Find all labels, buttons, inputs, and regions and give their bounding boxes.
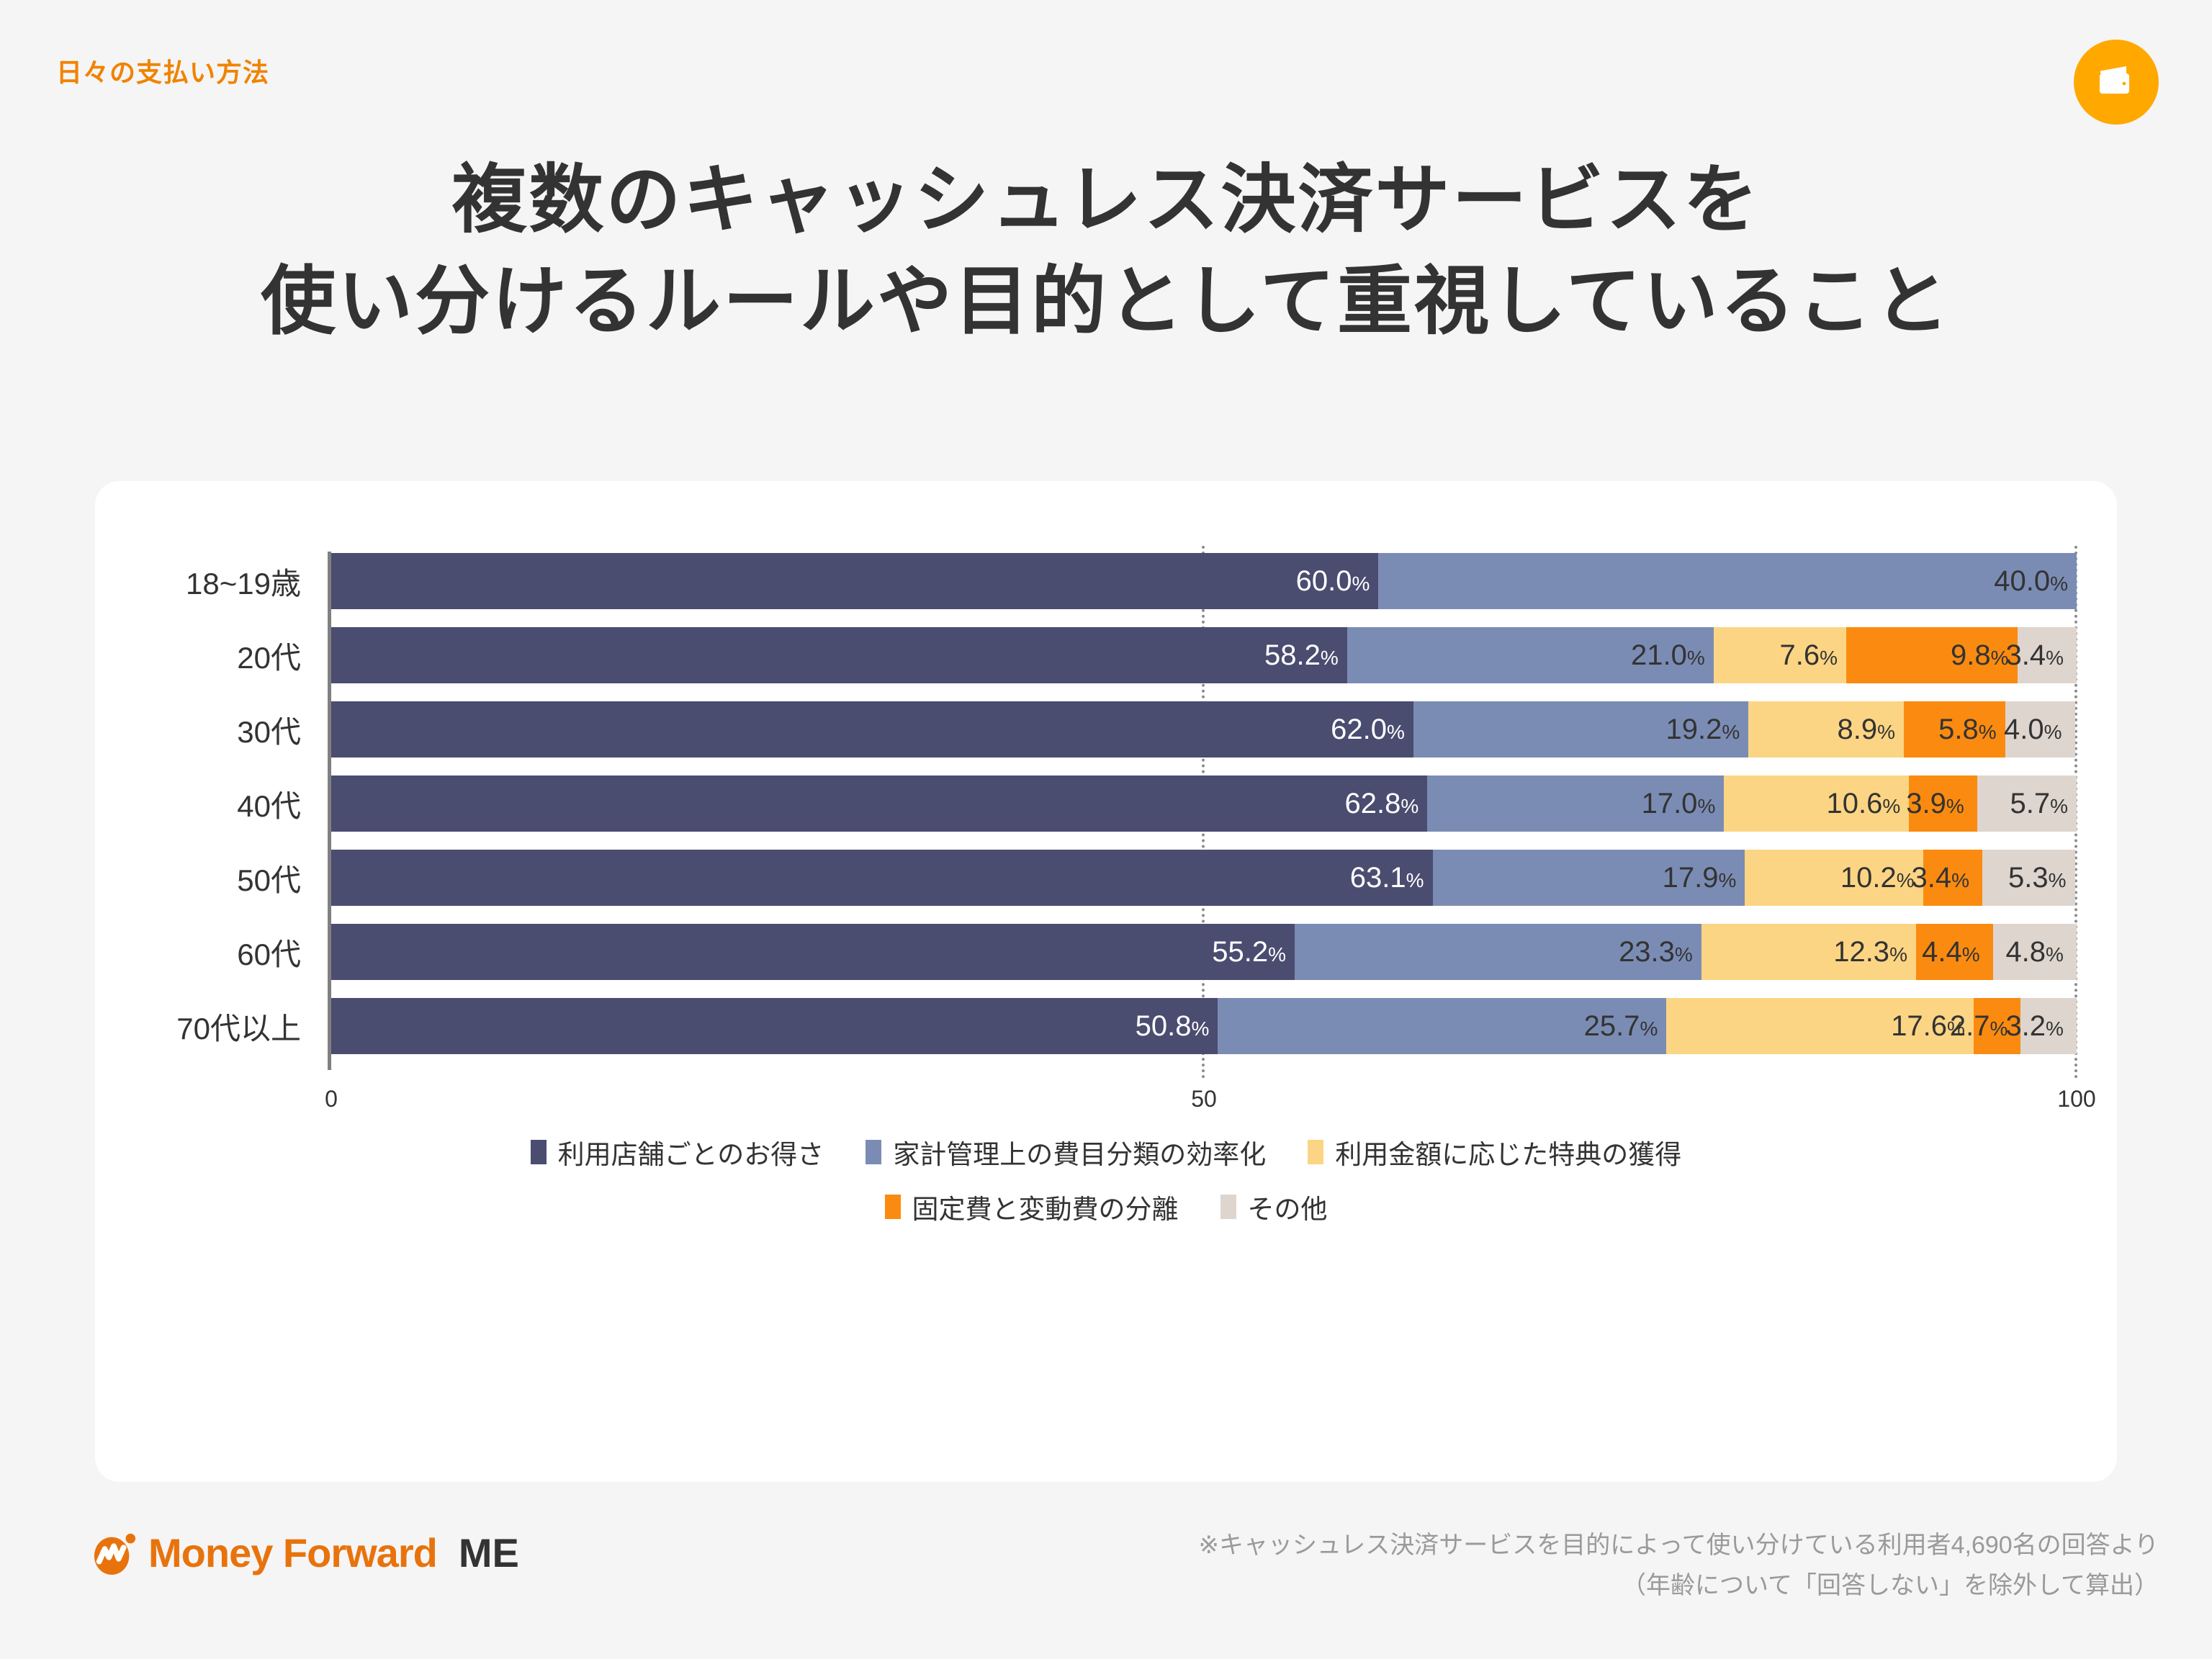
bar-value-label: 7.6%	[1780, 639, 1847, 672]
bar-segment: 9.8%	[1846, 627, 2018, 683]
bar-row: 50.8%25.7%17.6%2.7%3.2%	[331, 998, 2077, 1054]
stacked-bar-chart: 18~19歳20代30代40代50代60代70代以上 60.0%40.0%58.…	[95, 481, 2117, 1482]
legend-item[interactable]: その他	[1220, 1187, 1328, 1226]
bar-value-label: 63.1%	[1350, 862, 1433, 894]
bar-segment: 21.0%	[1347, 627, 1714, 683]
bar-value-label: 60.0%	[1296, 565, 1379, 598]
bar-segment: 23.3%	[1295, 924, 1701, 980]
x-axis-tick: 0	[325, 1086, 338, 1112]
chart-legend: 利用店舗ごとのお得さ家計管理上の費目分類の効率化利用金額に応じた特典の獲得固定費…	[95, 1133, 2117, 1242]
bar-segment: 4.4%	[1916, 924, 1993, 980]
bar-value-label: 3.4%	[1912, 862, 1979, 894]
legend-swatch-icon	[531, 1140, 547, 1164]
legend-row: 固定費と変動費の分離その他	[95, 1187, 2117, 1226]
money-forward-logo: Money Forward ME	[92, 1529, 519, 1576]
brand-product: ME	[459, 1529, 519, 1576]
footer: Money Forward ME ※キャッシュレス決済サービスを目的によって使い…	[0, 1512, 2212, 1627]
y-axis-label: 70代以上	[95, 998, 324, 1054]
bar-segment: 62.8%	[331, 775, 1427, 832]
bar-value-label: 3.4%	[2005, 639, 2072, 672]
bar-value-label: 4.4%	[1922, 936, 1989, 968]
bar-segment: 3.4%	[2018, 627, 2077, 683]
bar-value-label: 55.2%	[1212, 936, 1295, 968]
bar-segment: 10.6%	[1724, 775, 1909, 832]
bar-value-label: 4.0%	[2004, 714, 2071, 746]
y-axis-label: 50代	[95, 850, 324, 906]
bar-value-label: 58.2%	[1264, 639, 1347, 672]
bar-segment: 4.8%	[1993, 924, 2077, 980]
y-axis-label: 20代	[95, 627, 324, 683]
bar-value-label: 25.7%	[1584, 1010, 1667, 1043]
bar-segment: 62.0%	[331, 701, 1413, 757]
bar-segment: 17.6%	[1666, 998, 1974, 1054]
legend-swatch-icon	[1308, 1140, 1323, 1164]
bar-segment: 17.0%	[1427, 775, 1724, 832]
bar-value-label: 10.6%	[1827, 788, 1910, 820]
legend-row: 利用店舗ごとのお得さ家計管理上の費目分類の効率化利用金額に応じた特典の獲得	[95, 1133, 2117, 1172]
legend-item[interactable]: 固定費と変動費の分離	[885, 1187, 1179, 1226]
bar-value-label: 10.2%	[1840, 862, 1923, 894]
bar-value-label: 19.2%	[1666, 714, 1749, 746]
bar-value-label: 50.8%	[1136, 1010, 1218, 1043]
legend-item[interactable]: 利用金額に応じた特典の獲得	[1308, 1133, 1681, 1172]
bar-row: 62.0%19.2%8.9%5.8%4.0%	[331, 701, 2077, 757]
bar-value-label: 40.0%	[1994, 565, 2077, 598]
bar-value-label: 62.8%	[1345, 788, 1428, 820]
title-line-2: 使い分けるルールや目的として重視していること	[0, 251, 2212, 353]
legend-label: 家計管理上の費目分類の効率化	[893, 1133, 1266, 1172]
legend-label: 固定費と変動費の分離	[912, 1187, 1179, 1226]
bar-value-label: 8.9%	[1838, 714, 1905, 746]
y-axis-label: 40代	[95, 775, 324, 832]
bar-row: 60.0%40.0%	[331, 553, 2077, 609]
bar-segment: 55.2%	[331, 924, 1295, 980]
y-axis-label: 60代	[95, 924, 324, 980]
bar-value-label: 62.0%	[1331, 714, 1413, 746]
bar-value-label: 23.3%	[1619, 936, 1701, 968]
legend-swatch-icon	[866, 1140, 881, 1164]
legend-label: その他	[1248, 1187, 1328, 1226]
bar-segment: 5.8%	[1904, 701, 2005, 757]
x-axis-tick: 50	[1191, 1086, 1217, 1112]
bar-value-label: 17.0%	[1642, 788, 1725, 820]
chart-card: 18~19歳20代30代40代50代60代70代以上 60.0%40.0%58.…	[95, 481, 2117, 1482]
bar-segment: 63.1%	[331, 850, 1433, 906]
brand-name: Money Forward	[148, 1529, 437, 1576]
bar-row: 63.1%17.9%10.2%3.4%5.3%	[331, 850, 2077, 906]
legend-item[interactable]: 利用店舗ごとのお得さ	[531, 1133, 824, 1172]
bar-segment: 3.2%	[2020, 998, 2077, 1054]
legend-label: 利用金額に応じた特典の獲得	[1335, 1133, 1681, 1172]
page-title: 複数のキャッシュレス決済サービスを 使い分けるルールや目的として重視していること	[0, 150, 2212, 354]
bar-segment: 4.0%	[2005, 701, 2075, 757]
bar-segment: 8.9%	[1748, 701, 1904, 757]
legend-item[interactable]: 家計管理上の費目分類の効率化	[866, 1133, 1266, 1172]
bar-value-label: 17.9%	[1663, 862, 1745, 894]
money-forward-mark-icon	[92, 1531, 137, 1575]
infographic-page: 日々の支払い方法 複数のキャッシュレス決済サービスを 使い分けるルールや目的とし…	[0, 0, 2212, 1659]
bar-segment: 10.2%	[1745, 850, 1923, 906]
bar-value-label: 4.8%	[2005, 936, 2072, 968]
bar-row: 62.8%17.0%10.6%3.9%5.7%	[331, 775, 2077, 832]
y-axis-labels: 18~19歳20代30代40代50代60代70代以上	[95, 553, 324, 1072]
y-axis-label: 30代	[95, 701, 324, 757]
bar-rows: 60.0%40.0%58.2%21.0%7.6%9.8%3.4%62.0%19.…	[331, 553, 2077, 1072]
bar-row: 58.2%21.0%7.6%9.8%3.4%	[331, 627, 2077, 683]
legend-swatch-icon	[885, 1195, 901, 1219]
y-axis-label: 18~19歳	[95, 553, 324, 609]
bar-value-label: 5.8%	[1938, 714, 2005, 746]
eyebrow-label: 日々の支払い方法	[56, 52, 269, 89]
bar-segment: 50.8%	[331, 998, 1218, 1054]
bar-value-label: 3.2%	[2005, 1010, 2072, 1043]
bar-value-label: 21.0%	[1631, 639, 1714, 672]
bar-segment: 3.9%	[1909, 775, 1977, 832]
bar-value-label: 12.3%	[1833, 936, 1916, 968]
bar-segment: 7.6%	[1714, 627, 1846, 683]
x-axis-tick: 100	[2057, 1086, 2095, 1112]
bar-segment: 40.0%	[1378, 553, 2077, 609]
bar-segment: 60.0%	[331, 553, 1378, 609]
title-line-1: 複数のキャッシュレス決済サービスを	[452, 158, 1761, 242]
footnote-line-1: ※キャッシュレス決済サービスを目的によって使い分けている利用者4,690名の回答…	[1199, 1525, 2159, 1565]
wallet-icon	[2074, 40, 2159, 125]
bar-segment: 58.2%	[331, 627, 1347, 683]
bar-row: 55.2%23.3%12.3%4.4%4.8%	[331, 924, 2077, 980]
bar-value-label: 5.7%	[2010, 788, 2077, 820]
bar-segment: 17.9%	[1433, 850, 1745, 906]
bar-segment: 5.3%	[1982, 850, 2074, 906]
footnote-line-2: （年齢について「回答しない」を除外して算出）	[1199, 1565, 2159, 1606]
bar-segment: 19.2%	[1413, 701, 1748, 757]
footnote: ※キャッシュレス決済サービスを目的によって使い分けている利用者4,690名の回答…	[1199, 1525, 2159, 1606]
bar-segment: 5.7%	[1977, 775, 2077, 832]
legend-label: 利用店舗ごとのお得さ	[558, 1133, 824, 1172]
bar-value-label: 3.9%	[1906, 788, 1973, 820]
bar-value-label: 5.3%	[2008, 862, 2075, 894]
bar-segment: 3.4%	[1923, 850, 1982, 906]
bar-segment: 12.3%	[1701, 924, 1916, 980]
bar-segment: 25.7%	[1218, 998, 1666, 1054]
x-axis-ticks: 050100	[95, 1086, 2117, 1122]
legend-swatch-icon	[1220, 1195, 1236, 1219]
